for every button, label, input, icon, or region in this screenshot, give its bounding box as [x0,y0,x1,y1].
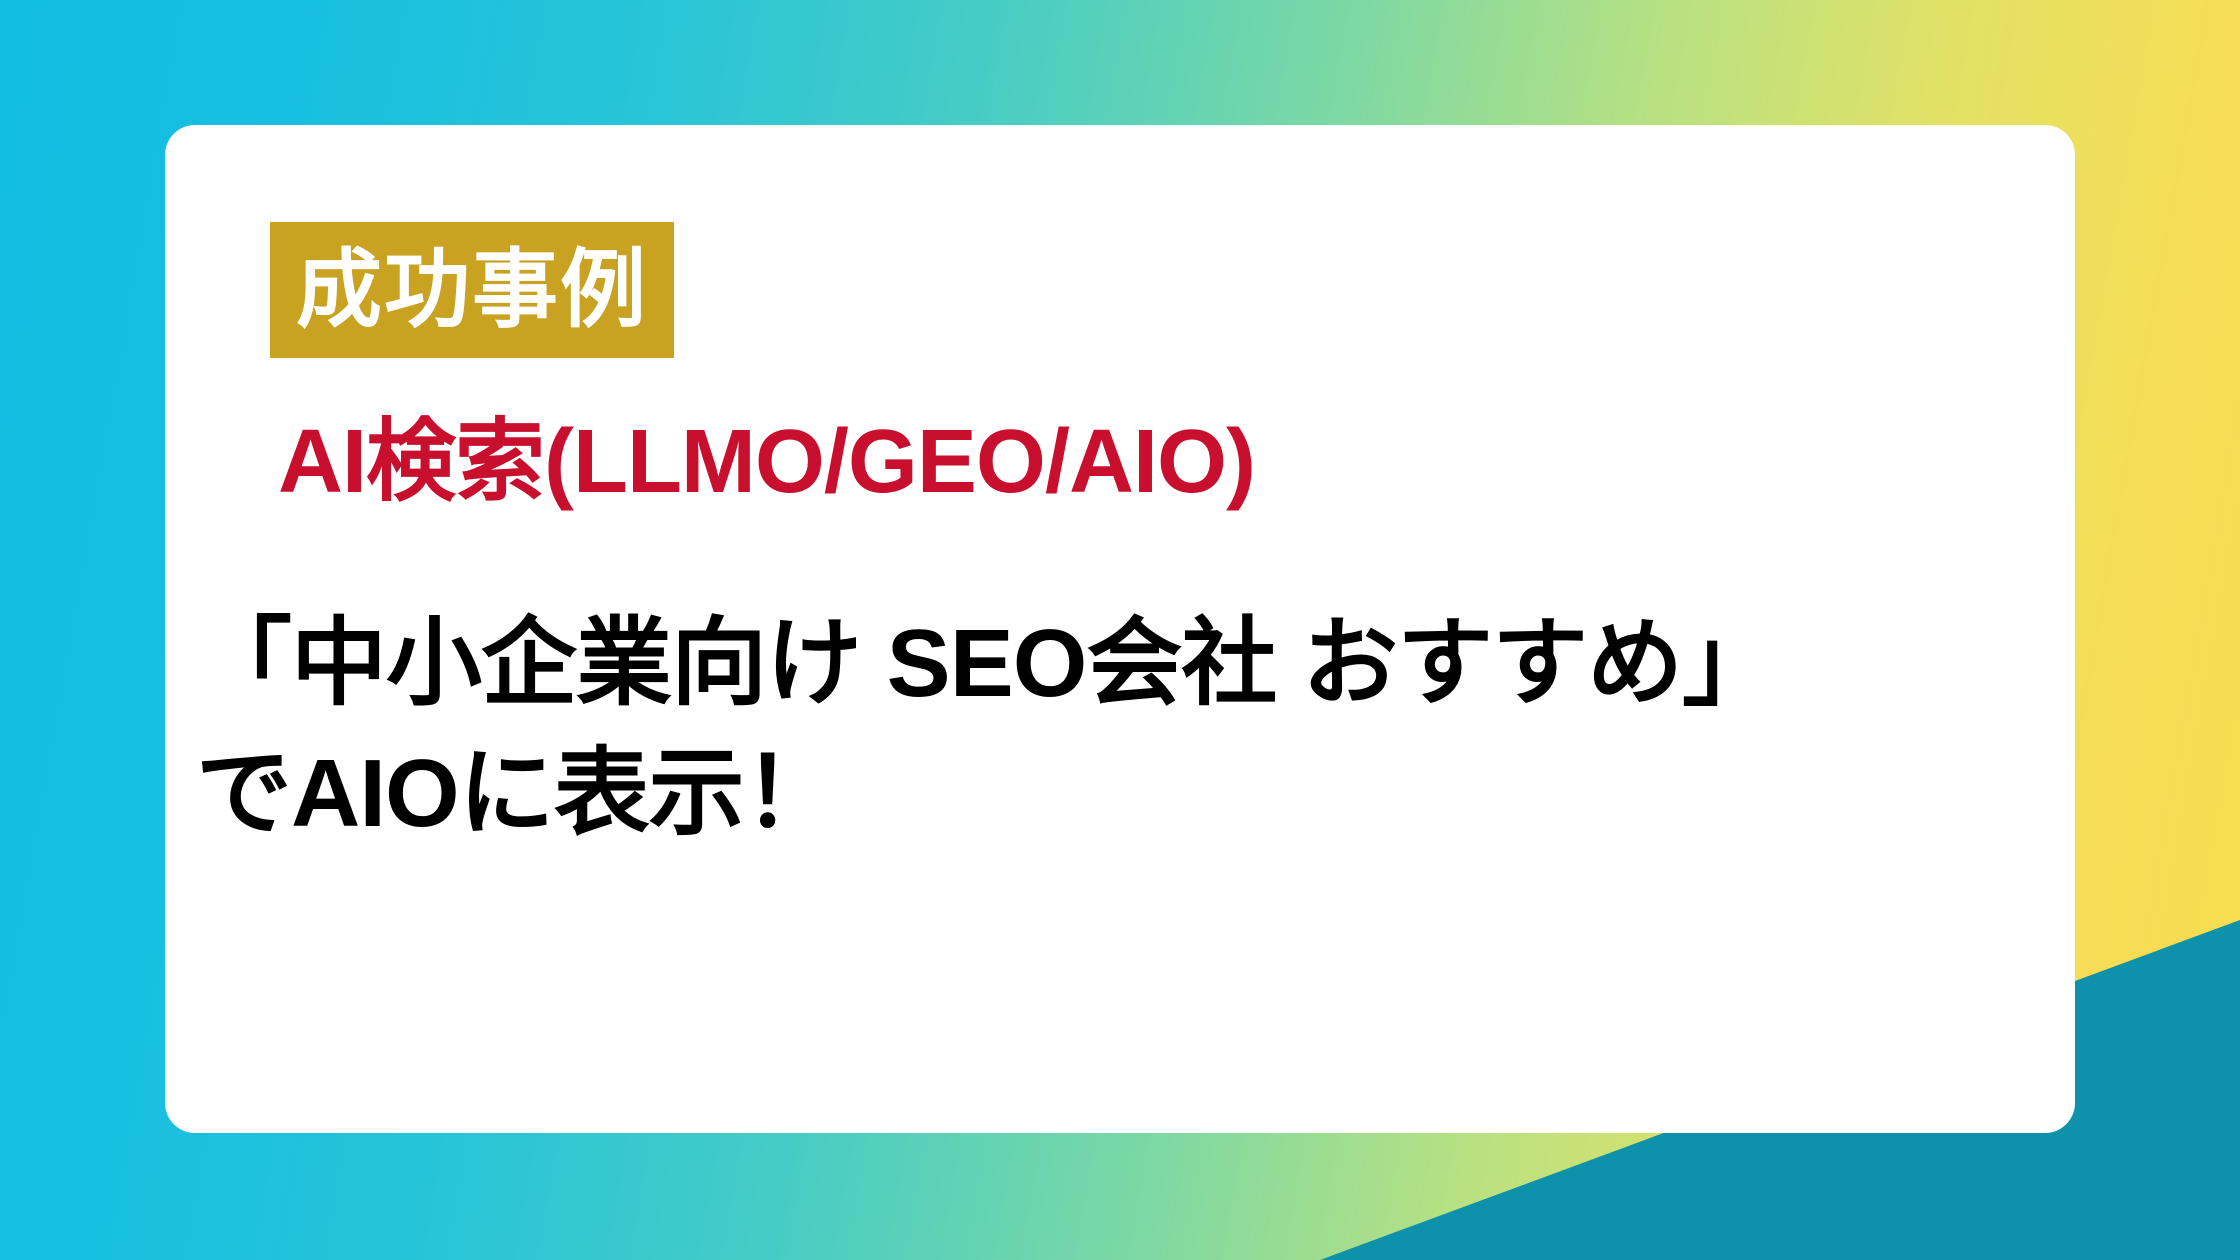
status-badge: 成功事例 [270,222,674,358]
slide-canvas: 成功事例 AI検索(LLMO/GEO/AIO) 「中小企業向け SEO会社 おす… [0,0,2240,1260]
headline-title-line-2: でAIOに表示！ [196,740,839,848]
headline-subtitle: AI検索(LLMO/GEO/AIO) [278,414,1255,511]
headline-title-line-1: 「中小企業向け SEO会社 おすすめ」 [196,610,1777,718]
content-layer: 成功事例 AI検索(LLMO/GEO/AIO) 「中小企業向け SEO会社 おす… [0,0,2240,1260]
